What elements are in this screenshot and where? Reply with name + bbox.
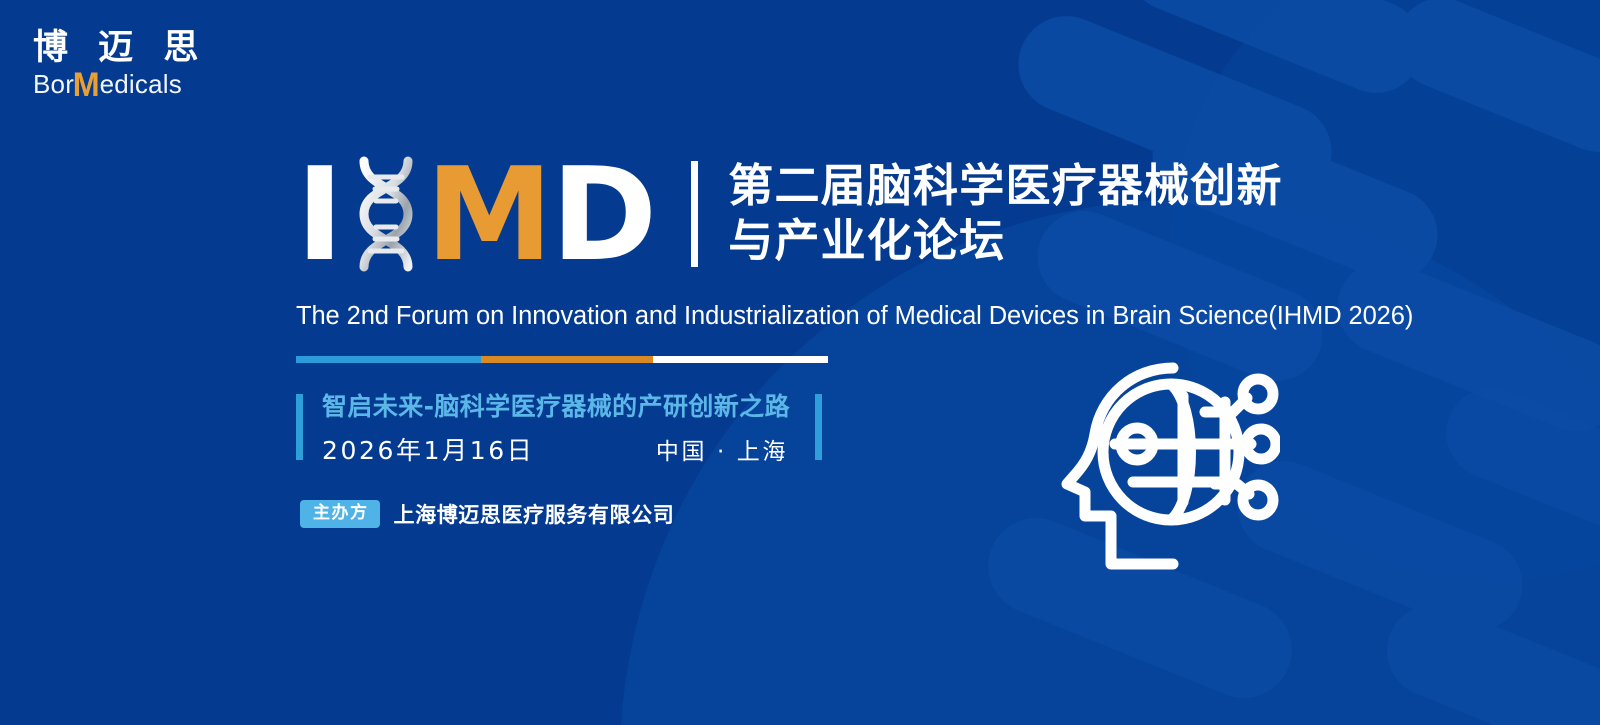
tricolor-divider <box>296 356 828 363</box>
theme-slogan: 智启未来-脑科学医疗器械的产研创新之路 <box>322 390 822 424</box>
subtitle-english: The 2nd Forum on Innovation and Industri… <box>296 302 1306 331</box>
logo-en-suffix: edicals <box>100 70 182 99</box>
logo-en-prefix: Bor <box>33 70 74 99</box>
theme-bracket-left <box>296 394 303 460</box>
logo-chinese-name: 博 迈 思 <box>33 28 263 68</box>
brain-network-head-icon <box>1055 352 1280 582</box>
divider-segment-white <box>653 356 828 363</box>
title-row: I <box>296 150 1306 278</box>
divider-segment-cyan <box>296 356 481 363</box>
conference-banner: 博 迈 思 BorMedicals I <box>0 0 1600 725</box>
event-date: 2026年1月16日 <box>322 431 534 467</box>
wordmark-letter-d: D <box>551 160 655 273</box>
wordmark-letter-i: I <box>296 160 342 273</box>
page-title: 第二届脑科学医疗器械创新 与产业化论坛 <box>728 159 1282 269</box>
wordmark-letter-m: M <box>426 160 551 273</box>
organizer-badge: 主办方 <box>300 500 380 528</box>
ihmd-wordmark: I <box>296 155 655 273</box>
logo-english-name: BorMedicals <box>33 70 263 99</box>
organizer-name: 上海博迈思医疗服务有限公司 <box>394 499 675 529</box>
event-meta-row: 2026年1月16日 中国 · 上海 <box>322 431 822 467</box>
company-logo: 博 迈 思 BorMedicals <box>33 28 263 99</box>
dna-helix-icon <box>348 155 424 273</box>
theme-block: 智启未来-脑科学医疗器械的产研创新之路 2026年1月16日 中国 · 上海 <box>296 388 822 469</box>
event-location: 中国 · 上海 <box>656 432 788 466</box>
title-divider <box>691 161 698 267</box>
theme-bracket-right <box>815 394 822 460</box>
divider-segment-orange <box>481 356 653 363</box>
